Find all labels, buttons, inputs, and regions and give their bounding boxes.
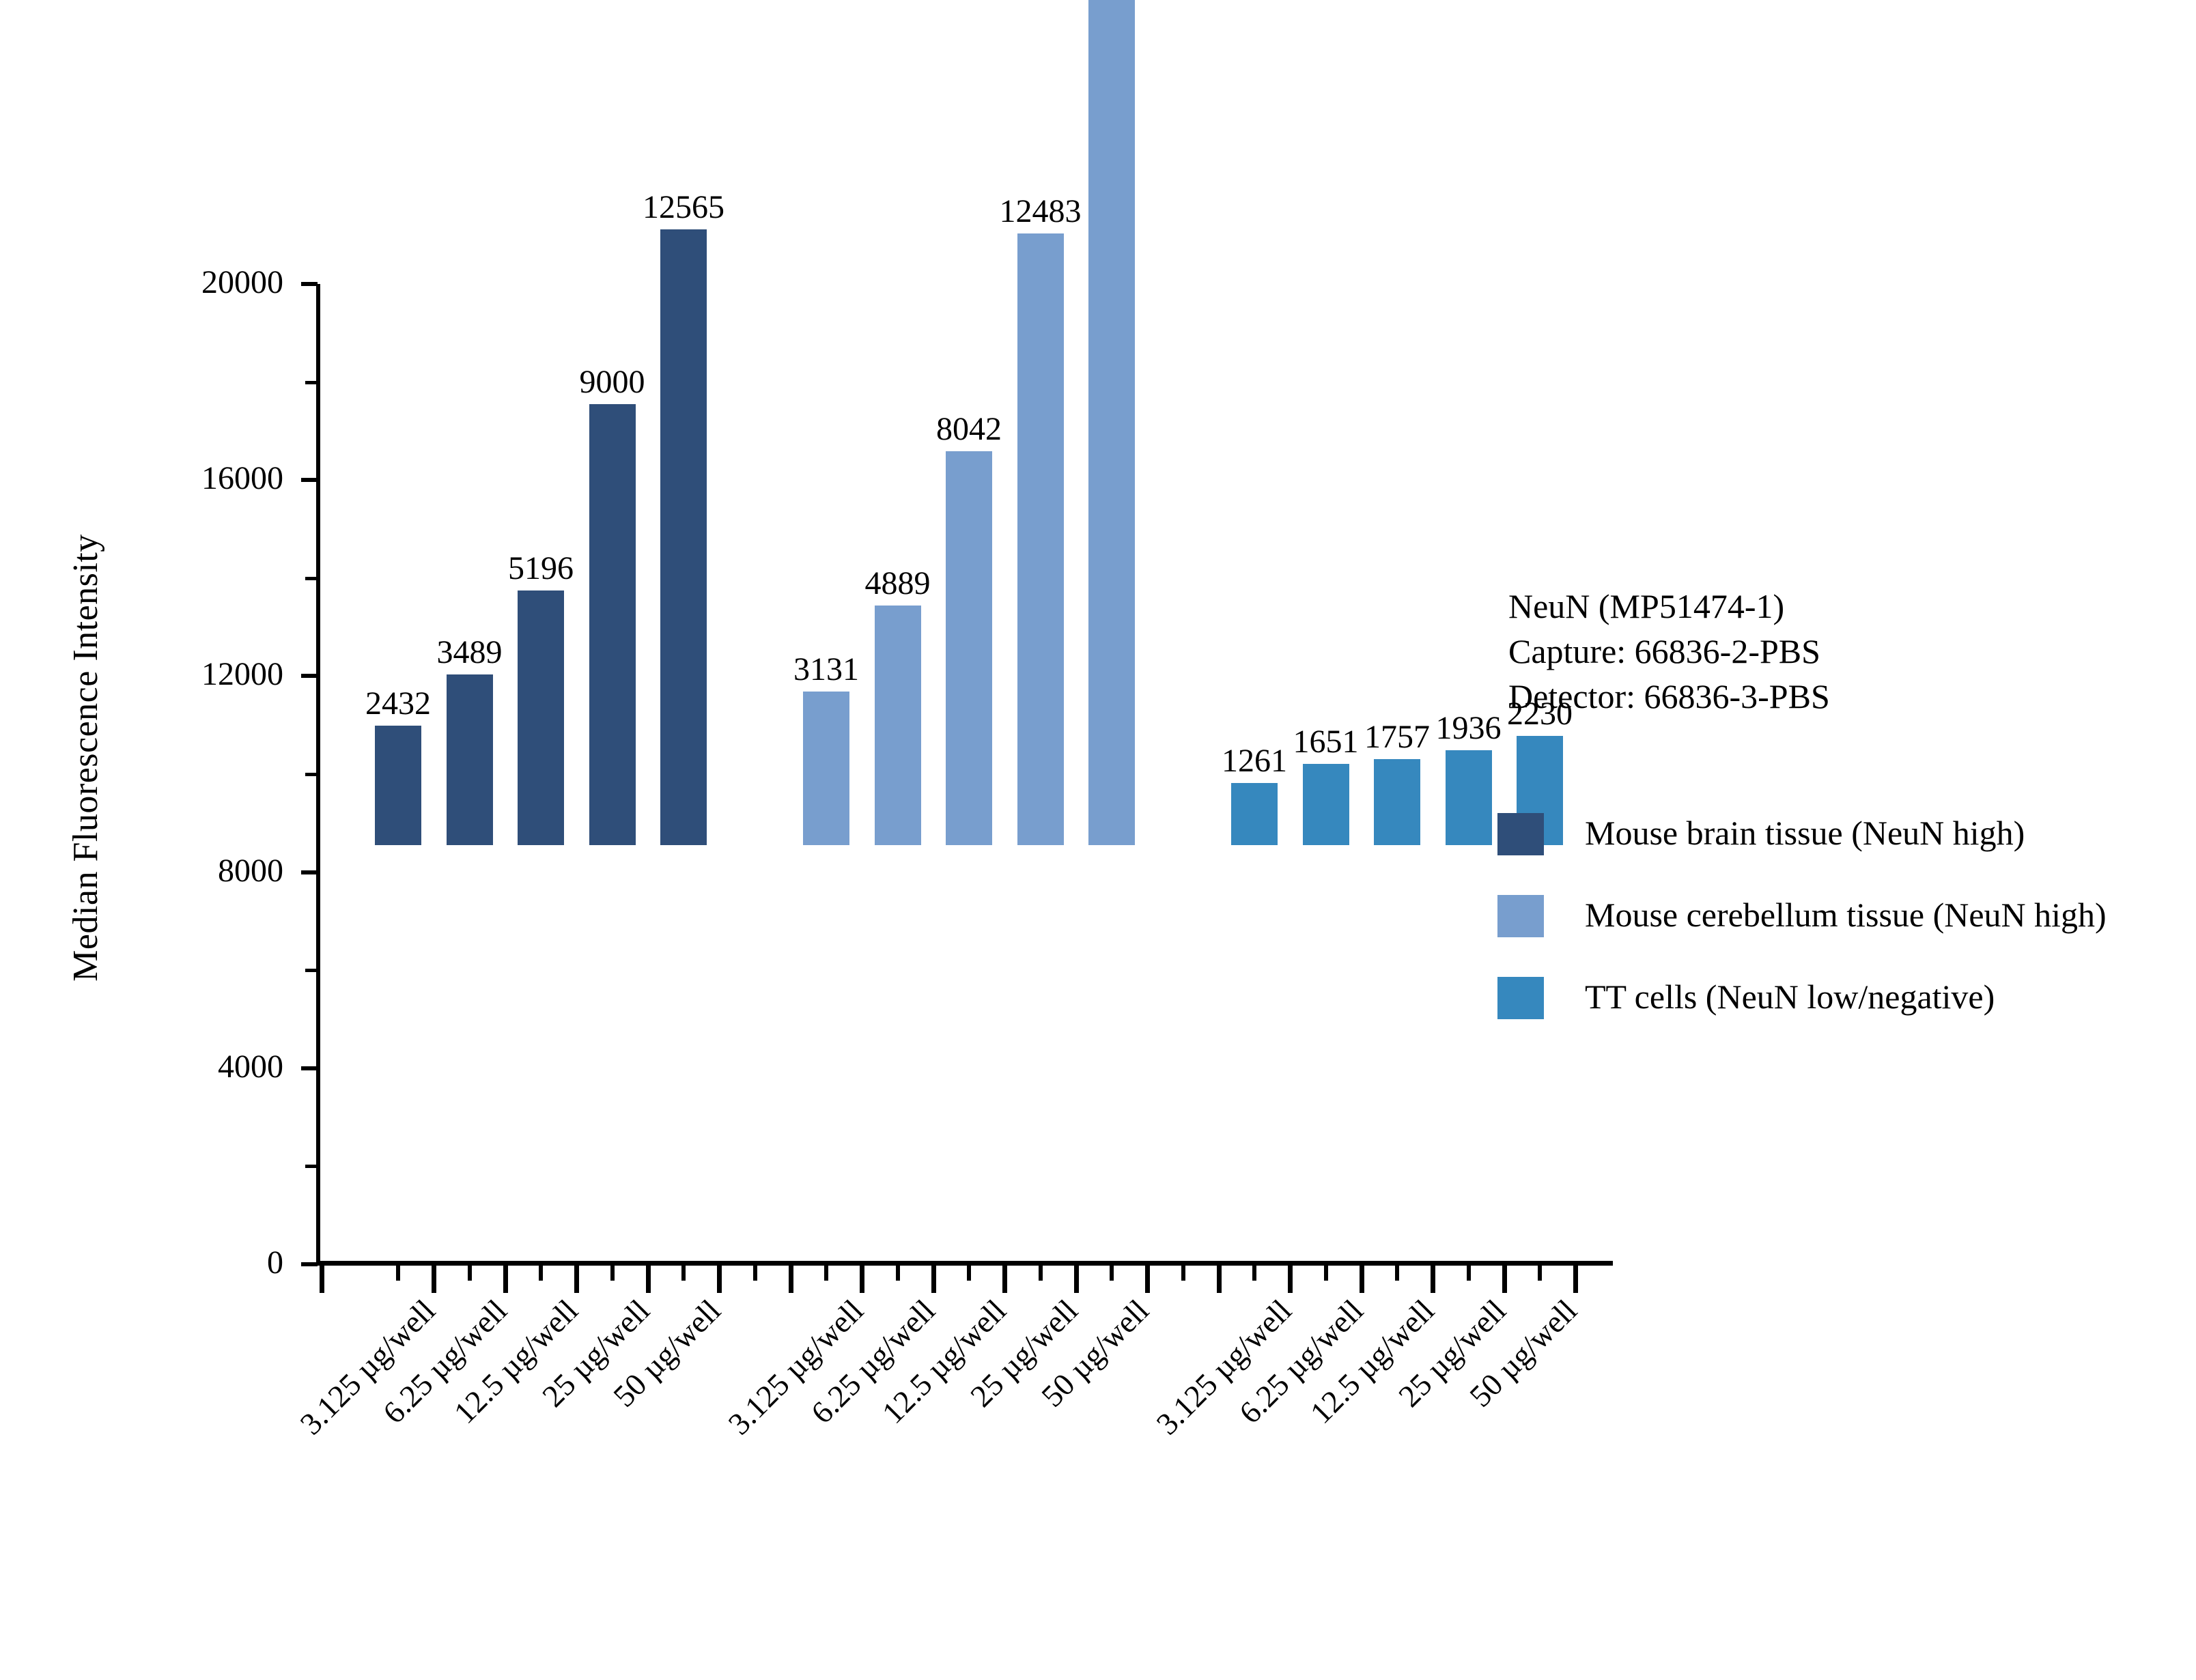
bar-value-label: 1757 [1364, 721, 1430, 754]
bar: 1757 [1374, 759, 1420, 845]
legend-label: Mouse cerebellum tissue (NeuN high) [1585, 891, 2107, 939]
bar-rect [1446, 750, 1492, 845]
bar: 8042 [946, 451, 992, 845]
bar: 3489 [447, 674, 493, 846]
annotation-block: NeuN (MP51474-1) Capture: 66836-2-PBS De… [1508, 584, 1830, 719]
y-axis-tick [301, 1262, 318, 1266]
legend-swatch [1497, 977, 1544, 1019]
x-axis-major-tick [320, 1266, 324, 1293]
bar-value-label: 1936 [1436, 712, 1502, 745]
bar-rect [1017, 233, 1064, 845]
plot-area: 2432348951969000125653131488980421248319… [0, 0, 2196, 1261]
bar: 1936 [1446, 750, 1492, 845]
bar: 2432 [375, 726, 421, 845]
bar-value-label: 12565 [643, 191, 724, 224]
x-axis-minor-tick [1252, 1266, 1256, 1281]
annotation-line-1: NeuN (MP51474-1) [1508, 584, 1830, 629]
bar: 1651 [1303, 764, 1349, 845]
x-axis-major-tick [1217, 1266, 1222, 1293]
bar-value-label: 12483 [1000, 195, 1082, 228]
bar: 19994 [1088, 0, 1135, 845]
bar-rect [447, 674, 493, 846]
bar-value-label: 2432 [365, 687, 431, 720]
bar: 12483 [1017, 233, 1064, 845]
annotation-line-2: Capture: 66836-2-PBS [1508, 629, 1830, 674]
bar-rect [946, 451, 992, 845]
bar-value-label: 3489 [437, 636, 503, 669]
bar-rect [1374, 759, 1420, 845]
bar-value-label: 3131 [793, 653, 859, 686]
bar-rect [803, 692, 849, 845]
legend-swatch [1497, 813, 1544, 855]
bar: 12565 [660, 229, 707, 845]
annotation-line-3: Detector: 66836-3-PBS [1508, 674, 1830, 719]
bar-rect [875, 606, 921, 845]
bar-rect [660, 229, 707, 845]
bar: 3131 [803, 692, 849, 845]
legend-swatch [1497, 895, 1544, 937]
bar-value-label: 4889 [865, 567, 931, 600]
legend-label: TT cells (NeuN low/negative) [1585, 973, 1995, 1021]
bar: 9000 [589, 404, 636, 845]
bar: 1261 [1231, 783, 1278, 845]
bar: 5196 [518, 590, 564, 845]
x-axis-minor-tick [396, 1266, 400, 1281]
legend-label: Mouse brain tissue (NeuN high) [1585, 809, 2025, 857]
bar-rect [589, 404, 636, 845]
bar: 4889 [875, 606, 921, 845]
x-axis-minor-tick [824, 1266, 828, 1281]
x-axis-major-tick [789, 1266, 793, 1293]
bar-value-label: 1261 [1222, 745, 1287, 778]
bar-rect [375, 726, 421, 845]
bar-rect [518, 590, 564, 845]
bar-rect [1231, 783, 1278, 845]
bar-rect [1088, 0, 1135, 845]
bar-value-label: 1651 [1293, 726, 1359, 758]
bar-value-label: 8042 [936, 413, 1002, 446]
bar-rect [1303, 764, 1349, 845]
chart-figure: Median Fluorescence Intensity 0400080001… [0, 0, 2196, 1680]
bar-value-label: 9000 [580, 366, 645, 399]
bar-value-label: 5196 [508, 552, 574, 585]
